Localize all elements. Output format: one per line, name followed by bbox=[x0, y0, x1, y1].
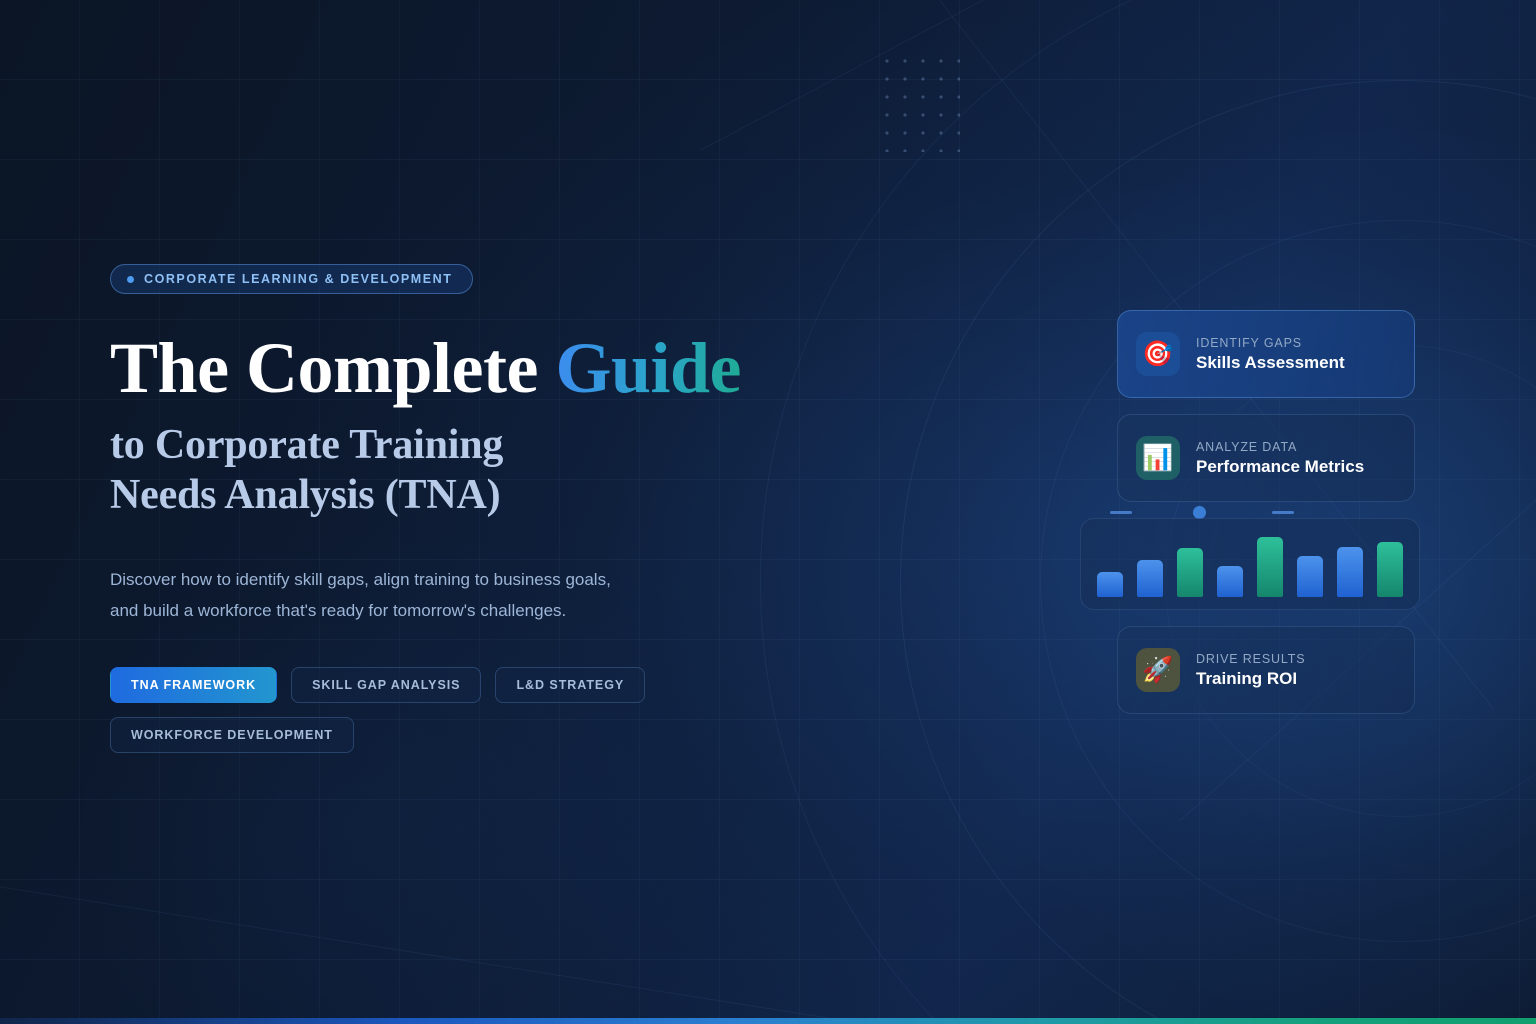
bottom-accent-bar bbox=[0, 1018, 1536, 1024]
category-badge: CORPORATE LEARNING & DEVELOPMENT bbox=[110, 264, 473, 294]
rocket-icon: 🚀 bbox=[1136, 648, 1180, 692]
marker-dash-right bbox=[1272, 511, 1294, 514]
info-card-kicker: ANALYZE DATA bbox=[1196, 440, 1364, 454]
info-card-text: IDENTIFY GAPS Skills Assessment bbox=[1196, 336, 1345, 373]
hero-content: CORPORATE LEARNING & DEVELOPMENT The Com… bbox=[110, 264, 810, 753]
page-title-accent: Guide bbox=[555, 328, 741, 408]
marker-dash-left bbox=[1110, 511, 1132, 514]
info-card-kicker: DRIVE RESULTS bbox=[1196, 652, 1305, 666]
status-dot-icon bbox=[127, 276, 134, 283]
info-card-performance-metrics[interactable]: 📊 ANALYZE DATA Performance Metrics bbox=[1117, 414, 1415, 502]
bar-chart-bar bbox=[1217, 566, 1243, 597]
bar-chart-bar bbox=[1137, 560, 1163, 597]
bar-chart-bar bbox=[1257, 537, 1283, 597]
tag-ld-strategy[interactable]: L&D STRATEGY bbox=[495, 667, 645, 703]
category-badge-label: CORPORATE LEARNING & DEVELOPMENT bbox=[144, 272, 452, 286]
tag-tna-framework[interactable]: TNA FRAMEWORK bbox=[110, 667, 277, 703]
page-subtitle: to Corporate Training Needs Analysis (TN… bbox=[110, 420, 810, 521]
page-description: Discover how to identify skill gaps, ali… bbox=[110, 565, 710, 627]
page-description-line-1: Discover how to identify skill gaps, ali… bbox=[110, 570, 611, 589]
background-diagonal-2 bbox=[700, 0, 1536, 151]
bar-chart-bar bbox=[1377, 542, 1403, 597]
page-title: The Complete Guide bbox=[110, 332, 810, 404]
tag-workforce-development[interactable]: WORKFORCE DEVELOPMENT bbox=[110, 717, 354, 753]
target-icon: 🎯 bbox=[1136, 332, 1180, 376]
bar-chart-icon: 📊 bbox=[1136, 436, 1180, 480]
dot-grid-decoration bbox=[878, 52, 960, 152]
info-card-training-roi[interactable]: 🚀 DRIVE RESULTS Training ROI bbox=[1117, 626, 1415, 714]
background-diagonal-3 bbox=[0, 880, 948, 1024]
tag-skill-gap-analysis[interactable]: SKILL GAP ANALYSIS bbox=[291, 667, 481, 703]
info-card-title: Training ROI bbox=[1196, 669, 1305, 689]
info-card-title: Skills Assessment bbox=[1196, 353, 1345, 373]
page-description-line-2: and build a workforce that's ready for t… bbox=[110, 596, 710, 627]
info-card-skills-assessment[interactable]: 🎯 IDENTIFY GAPS Skills Assessment bbox=[1117, 310, 1415, 398]
page-subtitle-line-2: Needs Analysis (TNA) bbox=[110, 470, 810, 520]
info-card-text: DRIVE RESULTS Training ROI bbox=[1196, 652, 1305, 689]
bar-chart-bar bbox=[1337, 547, 1363, 597]
info-card-text: ANALYZE DATA Performance Metrics bbox=[1196, 440, 1364, 477]
tag-list: TNA FRAMEWORK SKILL GAP ANALYSIS L&D STR… bbox=[110, 667, 690, 753]
info-card-kicker: IDENTIFY GAPS bbox=[1196, 336, 1345, 350]
bar-chart-bar bbox=[1177, 548, 1203, 597]
hero-page: CORPORATE LEARNING & DEVELOPMENT The Com… bbox=[0, 0, 1536, 1024]
bar-chart bbox=[1080, 518, 1420, 610]
page-title-main: The Complete bbox=[110, 328, 555, 408]
bar-chart-bar bbox=[1297, 556, 1323, 597]
page-subtitle-line-1: to Corporate Training bbox=[110, 422, 503, 468]
bar-chart-bar bbox=[1097, 572, 1123, 597]
info-card-title: Performance Metrics bbox=[1196, 457, 1364, 477]
